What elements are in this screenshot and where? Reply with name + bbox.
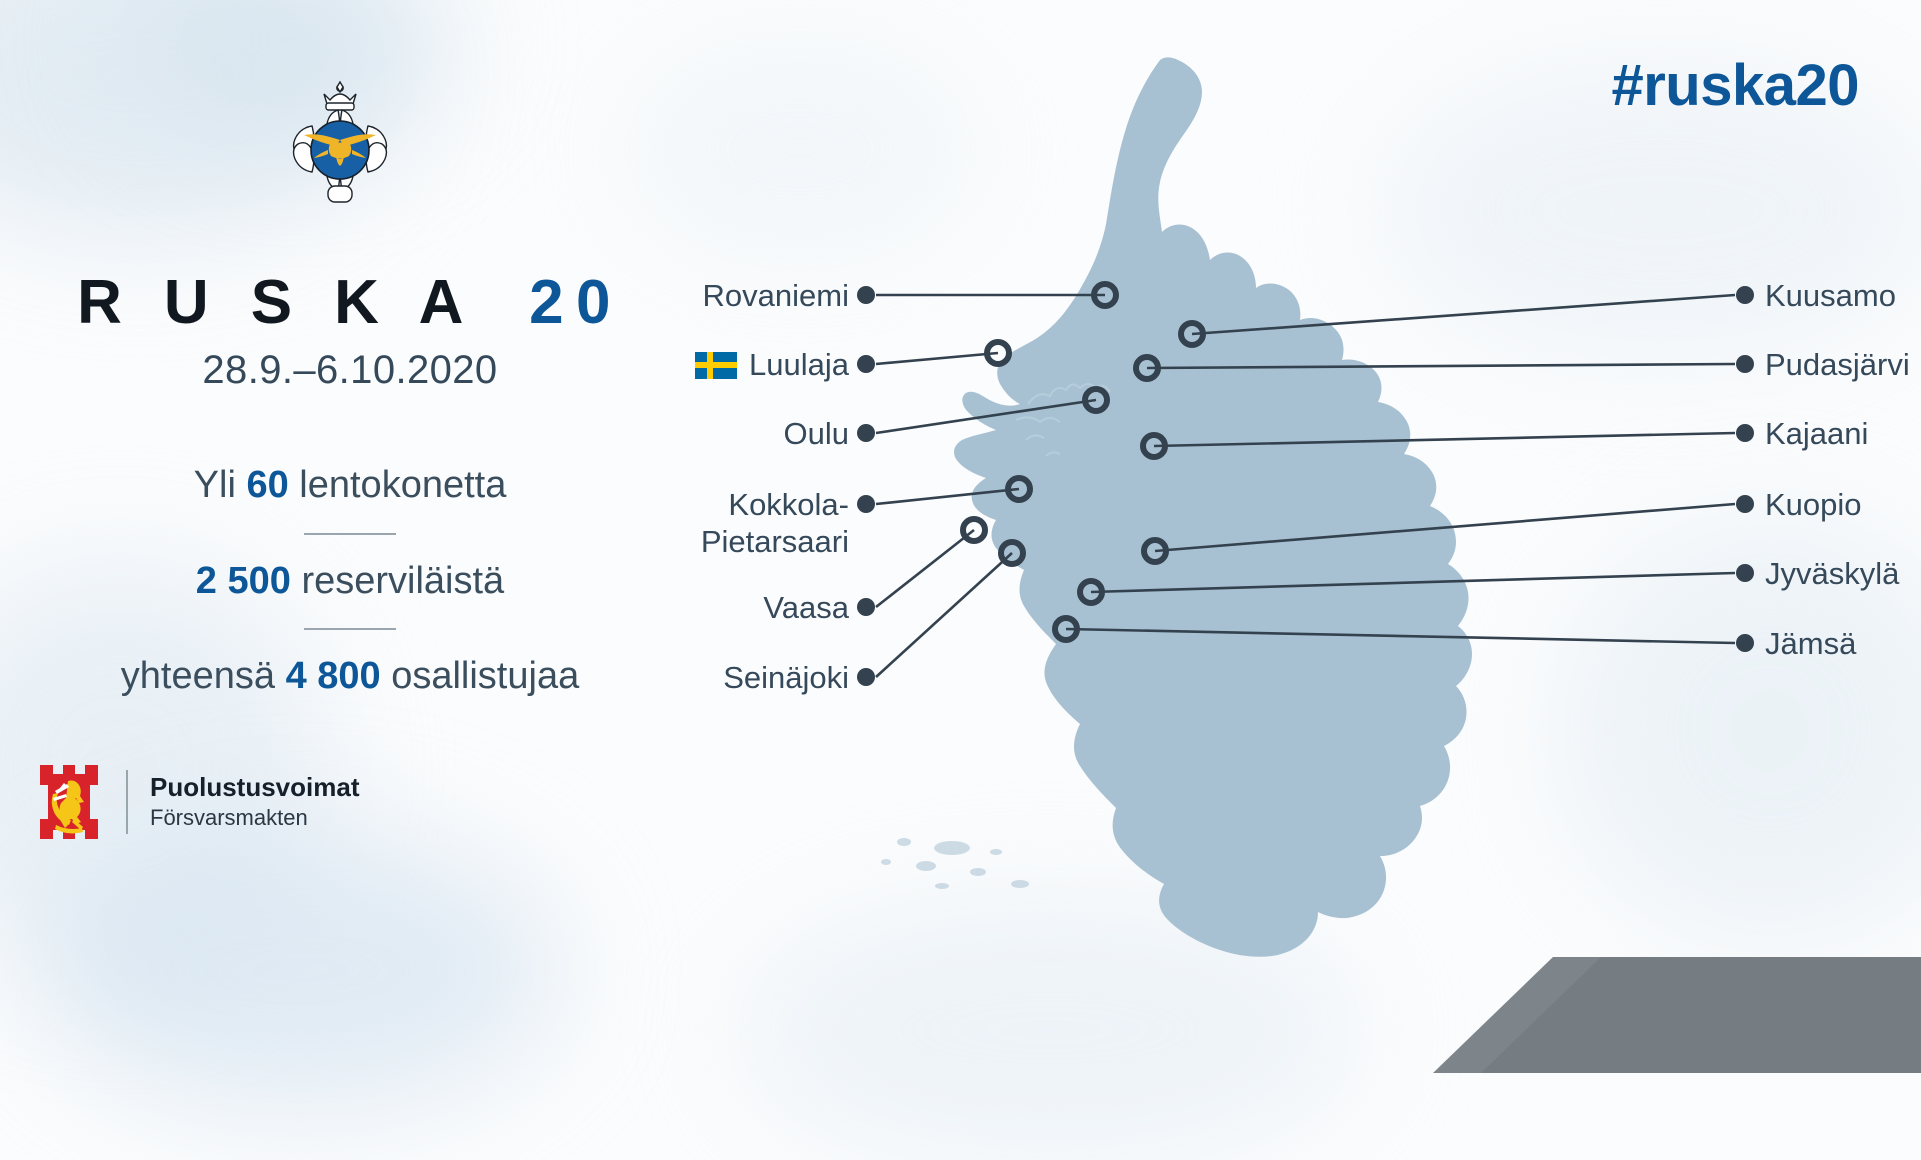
org-name-fi: Puolustusvoimat [150,772,359,804]
city-name-line1: Kokkola- [701,487,849,524]
city-label-kajaani: Kajaani [1765,416,1868,453]
city-label-jamsa: Jämsä [1765,626,1856,663]
city-name: Jämsä [1765,626,1856,661]
event-date-range: 28.9.–6.10.2020 [0,348,700,393]
city-label-pudasjarvi: Pudasjärvi [1765,347,1910,384]
stat-suffix: osallistujaa [381,655,580,697]
city-name: Kuopio [1765,487,1862,522]
city-label-kuusamo: Kuusamo [1765,278,1896,315]
city-name: Kuusamo [1765,278,1896,313]
stats-block: Yli 60 lentokonetta 2 500 reserviläistä … [0,455,700,708]
stat-prefix: Yli [194,464,247,506]
city-name: Jyväskylä [1765,556,1899,591]
city-name: Rovaniemi [703,278,849,313]
city-label-vaasa: Vaasa [763,590,849,627]
city-name: Luulaja [749,347,849,382]
city-name: Kajaani [1765,416,1868,451]
stat-line-participants: yhteensä 4 800 osallistujaa [0,646,700,708]
city-label-rovaniemi: Rovaniemi [703,278,849,315]
city-name: Vaasa [763,590,849,625]
stat-value: 60 [246,464,288,506]
finnish-air-force-emblem [268,70,412,230]
title-year: 20 [529,268,623,337]
stat-prefix: yhteensä [121,655,286,697]
logo-divider [126,770,128,834]
hashtag: #ruska20 [1611,52,1859,119]
city-name-line2: Pietarsaari [701,524,849,561]
left-panel: R U S K A 20 28.9.–6.10.2020 Yli 60 lent… [0,0,720,1073]
stat-divider [304,628,396,630]
stat-value: 2 500 [196,560,291,602]
stat-line-reservists: 2 500 reserviläistä [0,551,700,613]
city-label-oulu: Oulu [784,416,849,453]
page-title: R U S K A 20 [0,272,700,334]
stat-suffix: lentokonetta [289,464,507,506]
city-label-jyvaskyla: Jyväskylä [1765,556,1899,593]
city-label-seinajoki: Seinäjoki [723,660,849,697]
stat-suffix: reserviläistä [291,560,504,602]
stat-value: 4 800 [286,655,381,697]
organisation-logo: Puolustusvoimat Försvarsmakten [38,763,359,841]
corner-accent [1181,873,1921,1073]
title-main: R U S K A [77,268,473,337]
archipelago-islands [881,838,1029,889]
city-name: Pudasjärvi [1765,347,1910,382]
stat-divider [304,533,396,535]
city-label-kokkola-pietarsaari: Kokkola- Pietarsaari [701,487,849,560]
finland-silhouette [954,57,1472,956]
finland-coat-of-arms [38,763,100,841]
org-name-sv: Försvarsmakten [150,804,359,832]
city-name: Seinäjoki [723,660,849,695]
stat-line-aircraft: Yli 60 lentokonetta [0,455,700,517]
city-label-kuopio: Kuopio [1765,487,1862,524]
city-name: Oulu [784,416,849,451]
